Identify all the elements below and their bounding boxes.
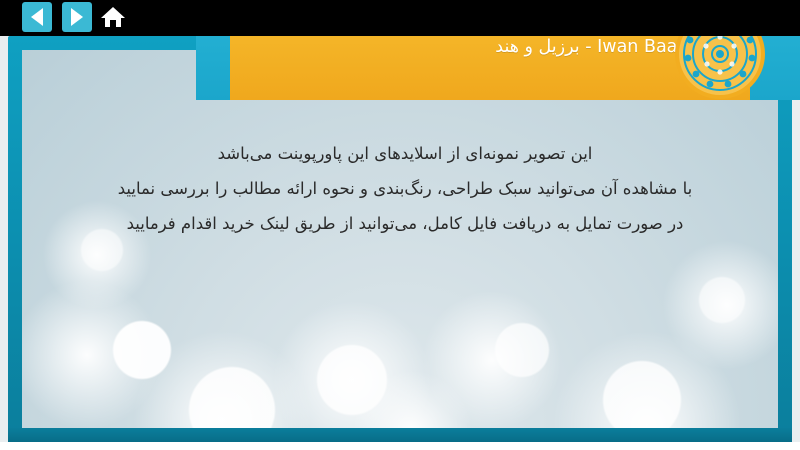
viewer-toolbar [0,0,800,36]
previous-slide-button[interactable] [22,2,52,32]
presentation-slide: بررسی طراحی معماری مدرن؛ زندگی با مدرنیت… [0,0,800,450]
slide-body-line: با مشاهده آن می‌توانید سبک طراحی، رنگ‌بن… [40,171,770,206]
next-slide-button[interactable] [62,2,92,32]
bokeh-blob [422,290,562,428]
slide-title-line: Iwan Baan - برزیل و هند [495,37,688,57]
slide-body: این تصویر نمونه‌ای از اسلایدهای این پاور… [40,136,770,241]
bokeh-blob [662,240,778,370]
slide-frame-bottom [8,428,792,442]
bokeh-blob [352,370,472,428]
triangle-left-icon [31,8,43,26]
home-icon [100,5,126,29]
bokeh-blob [132,330,312,428]
page-bottom-margin [0,442,800,450]
triangle-right-icon [71,8,83,26]
home-button[interactable] [98,2,128,32]
slide-viewer: بررسی طراحی معماری مدرن؛ زندگی با مدرنیت… [0,0,800,450]
slide-body-line: این تصویر نمونه‌ای از اسلایدهای این پاور… [40,136,770,171]
bokeh-blob [272,300,432,428]
slide-body-line: در صورت تمایل به دریافت فایل کامل، می‌تو… [40,206,770,241]
bokeh-blob [552,330,742,428]
bokeh-blob [22,280,162,428]
